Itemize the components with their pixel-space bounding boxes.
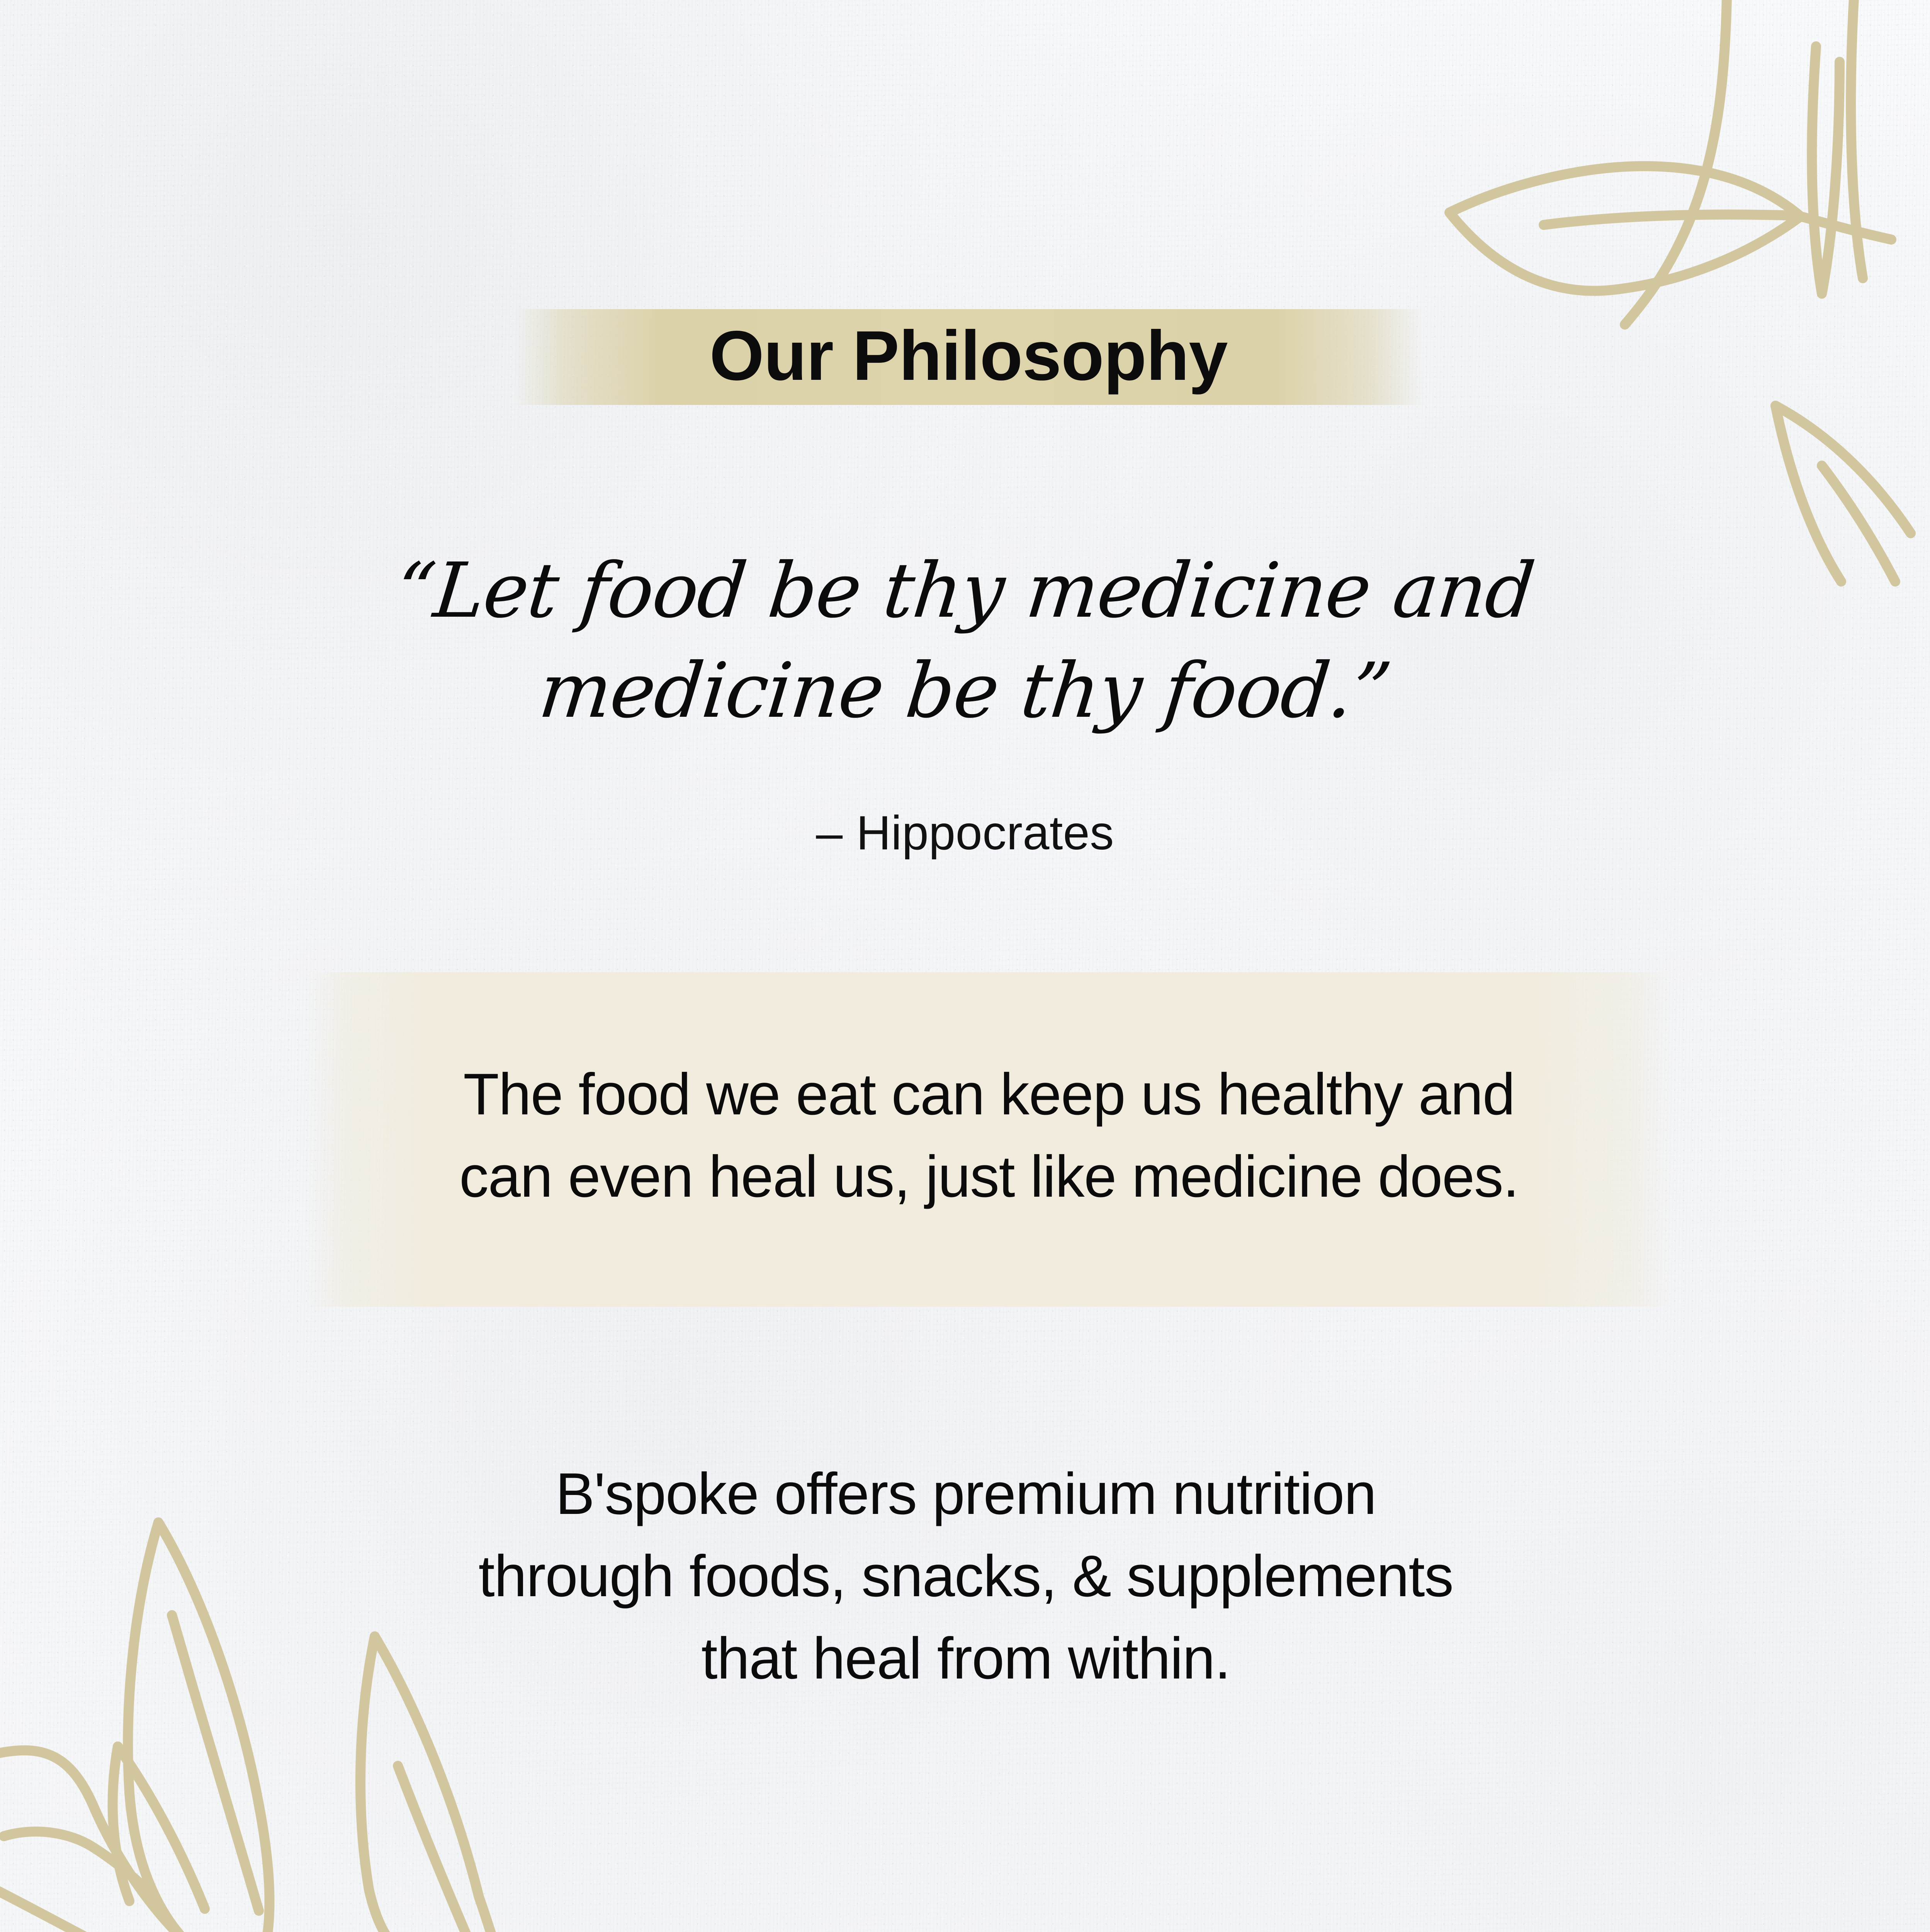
- quote-attribution: – Hippocrates: [0, 806, 1930, 861]
- statement-line-1: The food we eat can keep us healthy and: [463, 1061, 1515, 1127]
- statement-text: The food we eat can keep us healthy and …: [459, 1053, 1519, 1218]
- closing-line-1: B'spoke offers premium nutrition: [556, 1461, 1376, 1527]
- title-banner: Our Philosophy: [513, 309, 1424, 405]
- closing-paragraph: B'spoke offers premium nutrition through…: [216, 1453, 1715, 1699]
- quote-line-2: medicine be thy food.”: [0, 641, 1930, 741]
- closing-line-2: through foods, snacks, & supplements: [478, 1543, 1453, 1609]
- closing-line-3: that heal from within.: [701, 1626, 1230, 1691]
- page-title: Our Philosophy: [710, 320, 1228, 391]
- leaf-branch-icon: [1378, 0, 1930, 587]
- quote-block: “Let food be thy medicine and medicine b…: [0, 541, 1930, 741]
- quote-line-1: “Let food be thy medicine and: [0, 541, 1930, 641]
- philosophy-poster: Our Philosophy “Let food be thy medicine…: [0, 0, 1930, 1932]
- statement-highlight-band: The food we eat can keep us healthy and …: [305, 972, 1673, 1307]
- statement-line-2: can even heal us, just like medicine doe…: [459, 1144, 1519, 1209]
